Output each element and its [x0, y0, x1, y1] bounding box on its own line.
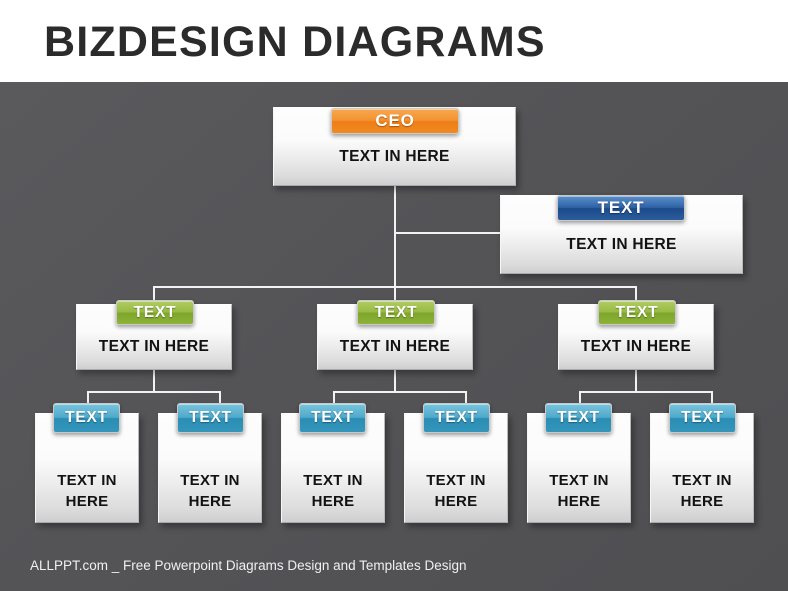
- badge-leaf-1[interactable]: TEXT: [53, 403, 120, 433]
- badge-ceo[interactable]: CEO: [331, 108, 459, 134]
- badge-leaf-2[interactable]: TEXT: [177, 403, 244, 433]
- badge-mid-1[interactable]: TEXT: [116, 300, 194, 325]
- node-leaf-6-line1: TEXT IN: [672, 472, 732, 489]
- badge-leaf-5[interactable]: TEXT: [545, 403, 612, 433]
- badge-ceo-label: CEO: [375, 111, 414, 131]
- node-leaf-5-body: TEXT IN HERE: [528, 470, 630, 512]
- node-leaf-3-body: TEXT IN HERE: [282, 470, 384, 512]
- badge-leaf-4[interactable]: TEXT: [423, 403, 490, 433]
- connector-group2-stem: [394, 370, 396, 392]
- badge-mid-3-label: TEXT: [616, 304, 659, 322]
- node-mid-1-body: TEXT IN HERE: [77, 338, 231, 356]
- connector-group1-stem: [153, 370, 155, 392]
- badge-leaf-2-label: TEXT: [189, 409, 232, 427]
- node-leaf-4-line1: TEXT IN: [426, 472, 486, 489]
- footer-credit: ALLPPT.com _ Free Powerpoint Diagrams De…: [30, 558, 466, 573]
- connector-group3-stem: [635, 370, 637, 392]
- badge-mid-3[interactable]: TEXT: [598, 300, 676, 325]
- node-leaf-1-line2: HERE: [66, 493, 109, 510]
- badge-branch[interactable]: TEXT: [557, 195, 685, 221]
- node-ceo-body: TEXT IN HERE: [274, 148, 515, 166]
- slide-root: BIZDESIGN DIAGRAMS TEXT IN HERE: [0, 0, 788, 591]
- badge-mid-2-label: TEXT: [375, 304, 418, 322]
- badge-branch-label: TEXT: [598, 198, 645, 218]
- badge-leaf-6[interactable]: TEXT: [669, 403, 736, 433]
- badge-leaf-3-label: TEXT: [311, 409, 354, 427]
- diagram-canvas: TEXT IN HERE CEO TEXT IN HERE TEXT TEXT …: [0, 82, 788, 591]
- node-leaf-2-line2: HERE: [189, 493, 232, 510]
- node-leaf-2-line1: TEXT IN: [180, 472, 240, 489]
- badge-leaf-5-label: TEXT: [557, 409, 600, 427]
- node-leaf-1-line1: TEXT IN: [57, 472, 117, 489]
- node-mid-3-body: TEXT IN HERE: [559, 338, 713, 356]
- node-leaf-2-body: TEXT IN HERE: [159, 470, 261, 512]
- node-leaf-6-body: TEXT IN HERE: [651, 470, 753, 512]
- node-leaf-6-line2: HERE: [681, 493, 724, 510]
- connector-group3-bus: [579, 391, 712, 393]
- node-leaf-5-line1: TEXT IN: [549, 472, 609, 489]
- badge-leaf-6-label: TEXT: [681, 409, 724, 427]
- badge-mid-2[interactable]: TEXT: [357, 300, 435, 325]
- node-leaf-4-line2: HERE: [435, 493, 478, 510]
- header-band: BIZDESIGN DIAGRAMS: [0, 0, 788, 82]
- node-leaf-1-body: TEXT IN HERE: [36, 470, 138, 512]
- node-leaf-4-body: TEXT IN HERE: [405, 470, 507, 512]
- node-mid-2-body: TEXT IN HERE: [318, 338, 472, 356]
- badge-leaf-4-label: TEXT: [435, 409, 478, 427]
- badge-leaf-3[interactable]: TEXT: [299, 403, 366, 433]
- node-leaf-3-line2: HERE: [312, 493, 355, 510]
- page-title: BIZDESIGN DIAGRAMS: [44, 18, 546, 67]
- node-branch-body: TEXT IN HERE: [501, 236, 742, 254]
- connector-group1-bus: [87, 391, 220, 393]
- badge-leaf-1-label: TEXT: [65, 409, 108, 427]
- connector-group2-bus: [333, 391, 466, 393]
- badge-mid-1-label: TEXT: [134, 304, 177, 322]
- node-leaf-5-line2: HERE: [558, 493, 601, 510]
- connector-to-branch: [394, 232, 502, 234]
- node-leaf-3-line1: TEXT IN: [303, 472, 363, 489]
